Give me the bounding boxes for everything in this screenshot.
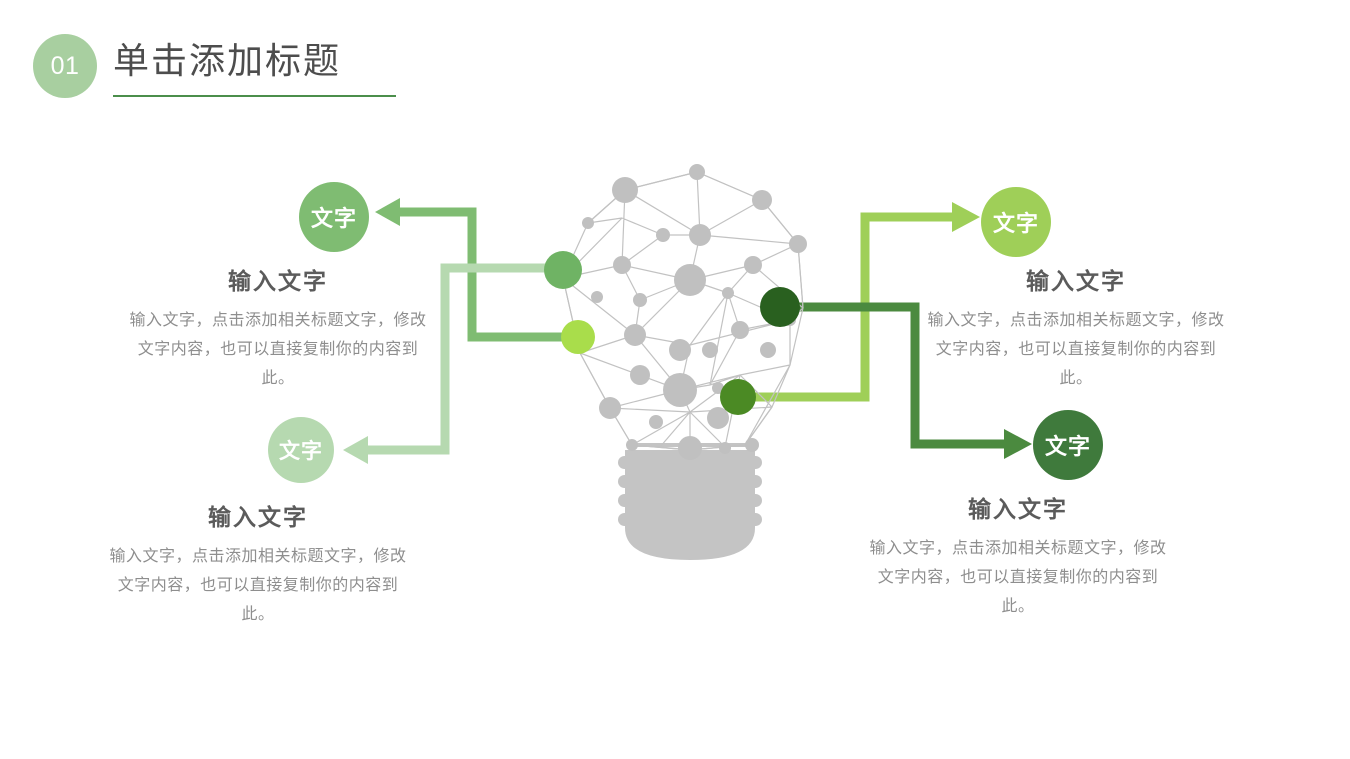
text-block-body: 输入文字，点击添加相关标题文字，修改文字内容，也可以直接复制你的内容到此。 — [920, 306, 1232, 393]
text-block-top-right: 输入文字 输入文字，点击添加相关标题文字，修改文字内容，也可以直接复制你的内容到… — [920, 262, 1232, 393]
section-number-label: 01 — [51, 54, 80, 79]
arrowhead-bottom-right — [1004, 429, 1032, 459]
text-block-body: 输入文字，点击添加相关标题文字，修改文字内容，也可以直接复制你的内容到此。 — [862, 534, 1174, 621]
node-circle-label: 文字 — [279, 435, 323, 465]
text-block-bottom-right: 输入文字 输入文字，点击添加相关标题文字，修改文字内容，也可以直接复制你的内容到… — [862, 490, 1174, 621]
text-block-heading: 输入文字 — [128, 262, 428, 296]
node-right-lower — [720, 379, 756, 415]
slide-header: 01 单击添加标题 — [0, 0, 1350, 130]
text-block-heading: 输入文字 — [102, 498, 414, 532]
arrowhead-top-right — [952, 202, 980, 232]
arrowhead-bottom-left — [343, 436, 368, 464]
node-circle-label: 文字 — [311, 201, 357, 233]
section-number-badge: 01 — [33, 34, 97, 98]
text-block-top-left: 输入文字 输入文字，点击添加相关标题文字，修改文字内容，也可以直接复制你的内容到… — [128, 262, 428, 393]
node-right-upper — [760, 287, 800, 327]
slide-canvas: 01 单击添加标题 — [0, 0, 1350, 759]
page-title: 单击添加标题 — [113, 36, 713, 86]
text-block-heading: 输入文字 — [862, 490, 1174, 524]
node-circle-top-right[interactable]: 文字 — [981, 187, 1051, 257]
node-circle-label: 文字 — [1045, 429, 1091, 461]
node-circle-bottom-left[interactable]: 文字 — [268, 417, 334, 483]
page-title-wrap: 单击添加标题 — [113, 36, 713, 86]
node-left-lower — [561, 320, 595, 354]
node-left-upper — [544, 251, 582, 289]
node-circle-top-left[interactable]: 文字 — [299, 182, 369, 252]
title-underline-rule — [113, 95, 396, 97]
text-block-body: 输入文字，点击添加相关标题文字，修改文字内容，也可以直接复制你的内容到此。 — [128, 306, 428, 393]
node-circle-bottom-right[interactable]: 文字 — [1033, 410, 1103, 480]
text-block-bottom-left: 输入文字 输入文字，点击添加相关标题文字，修改文字内容，也可以直接复制你的内容到… — [102, 498, 414, 629]
arrowhead-top-left — [375, 198, 400, 226]
node-circle-label: 文字 — [993, 206, 1039, 238]
bulb-base-icon — [618, 443, 762, 560]
text-block-body: 输入文字，点击添加相关标题文字，修改文字内容，也可以直接复制你的内容到此。 — [102, 542, 414, 629]
lightbulb-network-graphic — [540, 160, 840, 570]
text-block-heading: 输入文字 — [920, 262, 1232, 296]
